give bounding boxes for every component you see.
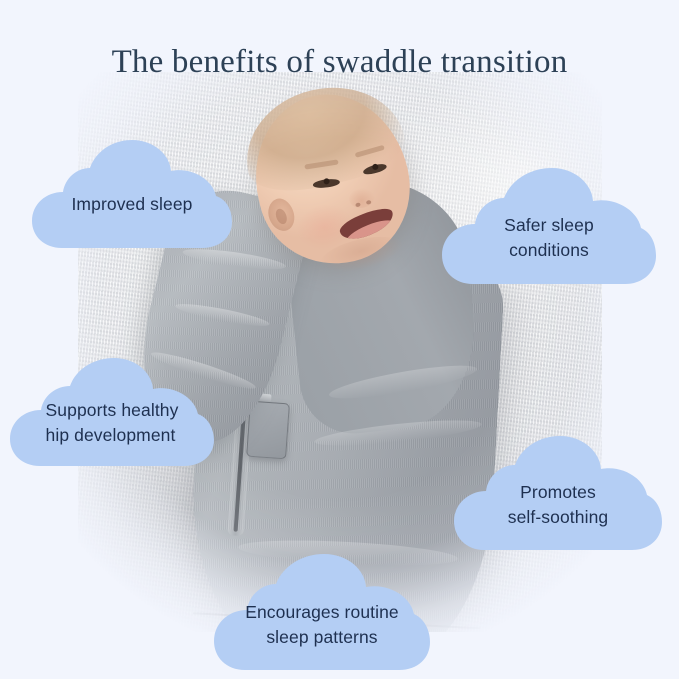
- baby-nostril: [366, 200, 372, 205]
- benefit-cloud-hip-development: Supports healthy hip development: [8, 356, 216, 468]
- baby-ear: [264, 195, 299, 235]
- benefit-cloud-improved-sleep: Improved sleep: [30, 138, 234, 250]
- fabric-fold: [174, 300, 271, 330]
- benefit-label: Improved sleep: [71, 192, 192, 217]
- benefit-cloud-routine-sleep: Encourages routine sleep patterns: [212, 552, 432, 672]
- page-title: The benefits of swaddle transition: [0, 44, 679, 81]
- benefit-cloud-self-soothing: Promotes self-soothing: [452, 434, 664, 552]
- baby-nose: [347, 185, 377, 210]
- baby-nostril: [355, 202, 361, 207]
- benefit-cloud-safer-sleep: Safer sleep conditions: [440, 166, 658, 286]
- swaddle-benefits-infographic: The benefits of swaddle transition Impro…: [0, 0, 679, 679]
- benefit-label: Promotes self-soothing: [508, 480, 609, 531]
- benefit-label: Encourages routine sleep patterns: [245, 600, 399, 651]
- benefit-label: Safer sleep conditions: [504, 213, 594, 264]
- benefit-label: Supports healthy hip development: [46, 398, 179, 449]
